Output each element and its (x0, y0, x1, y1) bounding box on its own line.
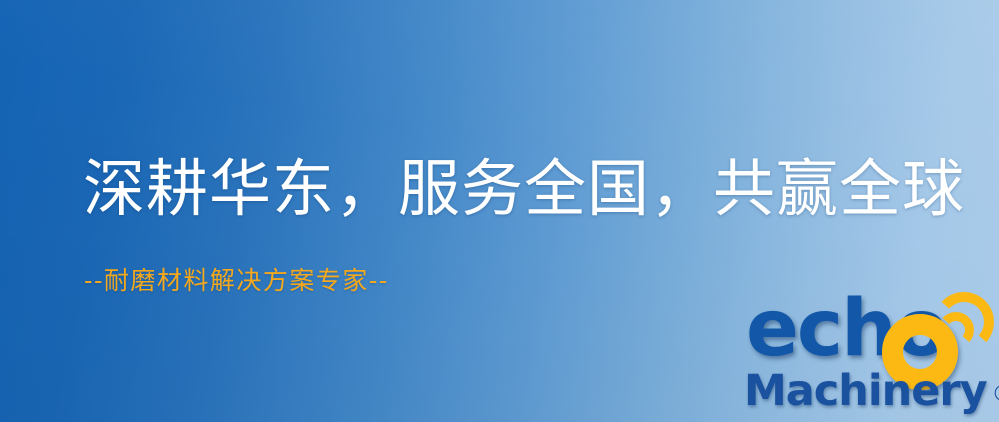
logo-tagline-row: Machinery ® (744, 368, 999, 414)
hero-banner: 深耕华东，服务全国，共赢全球 --耐磨材料解决方案专家-- echo Machi… (0, 0, 999, 422)
registered-trademark-icon: ® (992, 384, 999, 406)
company-logo[interactable]: echo Machinery ® (742, 296, 997, 422)
banner-headline: 深耕华东，服务全国，共赢全球 (83, 152, 965, 226)
banner-subtitle: --耐磨材料解决方案专家-- (84, 265, 389, 297)
logo-machinery-text: Machinery (744, 368, 987, 414)
logo-wordmark-group: echo (742, 296, 997, 374)
